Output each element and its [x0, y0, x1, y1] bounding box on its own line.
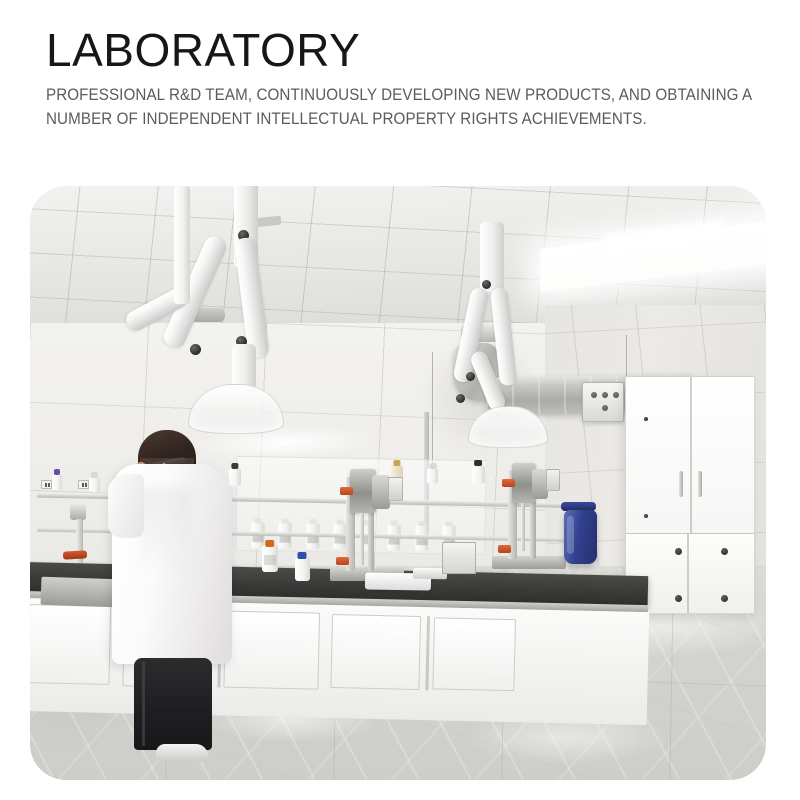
page-root: LABORATORY PROFESSIONAL R&D TEAM, CONTIN… [0, 0, 800, 800]
secondary-control-box[interactable] [442, 542, 476, 574]
control-panel-indicator-2[interactable] [602, 392, 608, 398]
fume-extraction-arm-right [464, 202, 614, 482]
bench-cabinet-door[interactable] [30, 604, 111, 685]
mixer-clamp-knob[interactable] [498, 545, 511, 553]
wall-control-panel[interactable] [582, 382, 624, 422]
fume-arm-right-segment-inner [490, 287, 517, 386]
bench-cabinet-door[interactable] [432, 617, 516, 691]
fume-arm-right-joint-low [456, 394, 465, 403]
fume-hood-left [188, 384, 284, 434]
mixer-stirrer-shaft [521, 503, 525, 551]
bench-bottle-white [262, 545, 278, 572]
technician-leg-seam [142, 662, 145, 746]
wall-socket[interactable] [41, 480, 52, 489]
wall-socket[interactable] [78, 480, 89, 489]
control-panel-indicator-3[interactable] [613, 392, 619, 398]
technician-shoulder [108, 474, 144, 538]
cabinet-lower-lock-left-2[interactable] [675, 595, 682, 602]
fume-arm-left-joint-elbow [190, 344, 201, 355]
header-block: LABORATORY PROFESSIONAL R&D TEAM, CONTIN… [46, 26, 796, 131]
technician-trousers [134, 658, 212, 750]
laboratory-photo [30, 186, 766, 780]
lab-technician [104, 430, 254, 775]
control-panel-indicator-4[interactable] [602, 405, 608, 411]
control-panel-indicator-1[interactable] [591, 392, 597, 398]
page-subtitle: PROFESSIONAL R&D TEAM, CONTINUOUSLY DEVE… [46, 84, 791, 131]
blue-chemical-drum [564, 510, 597, 564]
laboratory-scene [30, 186, 766, 780]
bench-bottle-blue-cap [295, 557, 310, 581]
shelf-bottle-small [89, 477, 100, 492]
faucet-red-handle[interactable] [63, 551, 87, 560]
faucet-head[interactable] [70, 504, 86, 520]
mixer-stirrer-shaft [360, 513, 364, 565]
cabinet-lower-split [687, 534, 689, 613]
cabinet-handle-right[interactable] [698, 471, 702, 497]
shelf-bottle-small [52, 474, 62, 490]
fume-arm-right-joint-elbow [466, 372, 475, 381]
mixer-clamp-knob[interactable] [336, 557, 349, 565]
mixer-base-plate [492, 556, 566, 569]
drum-highlight [567, 516, 574, 554]
mixer-height-knob[interactable] [340, 487, 353, 495]
mixer-control-box[interactable] [546, 469, 560, 491]
technician-shoe [156, 744, 208, 761]
shelf-bottle-large [472, 465, 485, 484]
mixer-stand-left[interactable] [346, 471, 436, 581]
cabinet-hinge-upper [644, 417, 648, 421]
cabinet-lower-lock-left[interactable] [675, 548, 682, 555]
mixer-control-box[interactable] [388, 477, 403, 501]
mixer-height-knob[interactable] [502, 479, 515, 487]
page-title: LABORATORY [46, 26, 796, 74]
cabinet-lower-lock-right-2[interactable] [721, 595, 728, 602]
ceiling-supply-pipe [174, 186, 190, 304]
bench-cabinet-door[interactable] [331, 614, 421, 690]
cabinet-hinge-lower [644, 514, 648, 518]
cabinet-handle-left[interactable] [679, 471, 683, 497]
cabinet-lower-lock-right[interactable] [721, 548, 728, 555]
bench-cabinet-gap [426, 616, 431, 691]
fume-hood-right [468, 406, 548, 448]
